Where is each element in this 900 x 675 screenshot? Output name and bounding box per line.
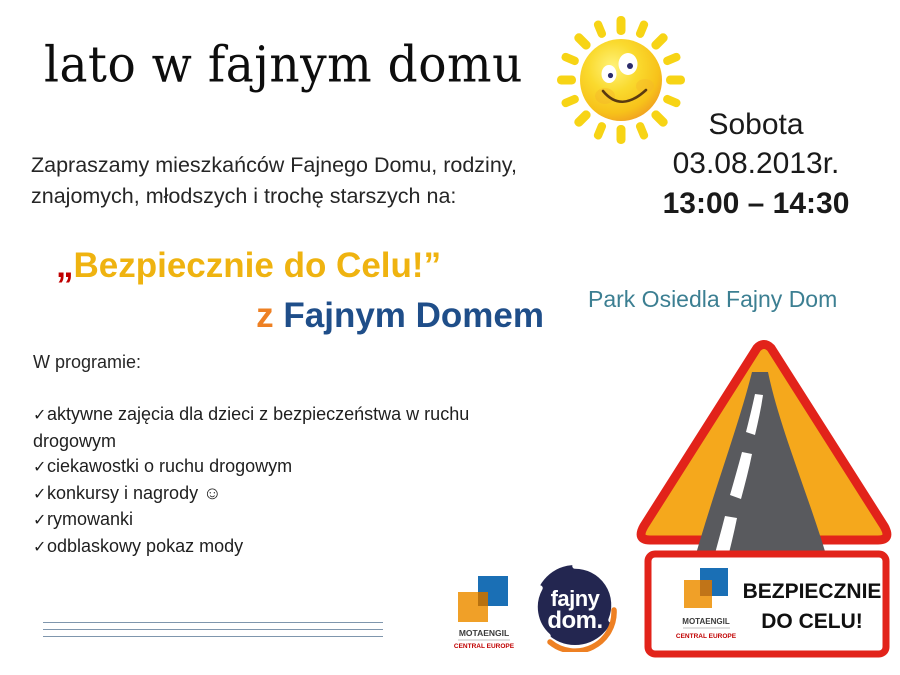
motaengil-name-sign: MOTAENGIL	[682, 617, 730, 626]
motaengil-region: CENTRAL EUROPE	[454, 643, 515, 650]
motaengil-region-sign: CENTRAL EUROPE	[676, 633, 737, 640]
motaengil-name: MOTAENGIL	[459, 628, 509, 638]
sign-slogan-line1: BEZPIECZNIE	[743, 580, 882, 603]
quote-close: ”	[424, 246, 442, 285]
divider-line	[43, 636, 383, 637]
headline-partner-line: z Fajnym Domem	[56, 296, 566, 336]
schedule-day-of-week: Sobota	[620, 106, 892, 144]
headline-main-line: „Bezpiecznie do Celu!”	[56, 246, 566, 286]
decorative-rule-group	[43, 622, 383, 637]
check-icon: ✓	[33, 403, 47, 429]
invitation-text: Zapraszamy mieszkańców Fajnego Domu, rod…	[31, 150, 571, 212]
list-item-label: konkursy i nagrody ☺	[47, 483, 221, 503]
list-item: ✓ciekawostki o ruchu drogowym	[33, 454, 553, 481]
check-icon: ✓	[33, 535, 47, 561]
list-item: ✓konkursy i nagrody ☺	[33, 481, 553, 508]
list-item-label: rymowanki	[47, 509, 133, 529]
headline-with-word: z	[256, 296, 274, 335]
headline-block: „Bezpiecznie do Celu!” z Fajnym Domem	[56, 246, 566, 336]
poster-canvas: lato w fajnym domu	[0, 0, 900, 675]
list-item-label: ciekawostki o ruchu drogowym	[47, 456, 292, 476]
divider-line	[43, 622, 383, 623]
road-sign-triangle-icon: MOTAENGIL CENTRAL EUROPE BEZPIECZNIE DO …	[634, 336, 900, 668]
divider-line	[43, 629, 383, 630]
schedule-date: 03.08.2013r.	[620, 144, 892, 184]
motaengil-logo: MOTAENGIL CENTRAL EUROPE	[452, 566, 522, 650]
list-item: ✓aktywne zajęcia dla dzieci z bezpieczeń…	[33, 402, 553, 454]
check-icon: ✓	[33, 482, 47, 508]
headline-slogan: Bezpiecznie do Celu!	[74, 246, 424, 285]
list-item: ✓rymowanki	[33, 507, 553, 534]
check-icon: ✓	[33, 455, 47, 481]
list-item: ✓odblaskowy pokaz mody	[33, 534, 553, 561]
page-title: lato w fajnym domu	[44, 36, 523, 94]
fajnydom-logo: fajny dom.	[528, 558, 622, 652]
schedule-time: 13:00 – 14:30	[620, 184, 892, 224]
program-label: W programie:	[33, 352, 141, 373]
program-list: ✓aktywne zajęcia dla dzieci z bezpieczeń…	[33, 402, 553, 560]
headline-partner: Fajnym Domem	[283, 296, 544, 335]
quote-open: „	[56, 246, 74, 285]
schedule-block: Sobota 03.08.2013r. 13:00 – 14:30	[620, 106, 892, 224]
location-text: Park Osiedla Fajny Dom	[588, 286, 837, 313]
list-item-label: odblaskowy pokaz mody	[47, 536, 243, 556]
fajnydom-word-2: dom.	[547, 607, 602, 634]
list-item-label: aktywne zajęcia dla dzieci z bezpieczeńs…	[33, 404, 469, 451]
sign-slogan-line2: DO CELU!	[761, 610, 863, 633]
check-icon: ✓	[33, 508, 47, 534]
